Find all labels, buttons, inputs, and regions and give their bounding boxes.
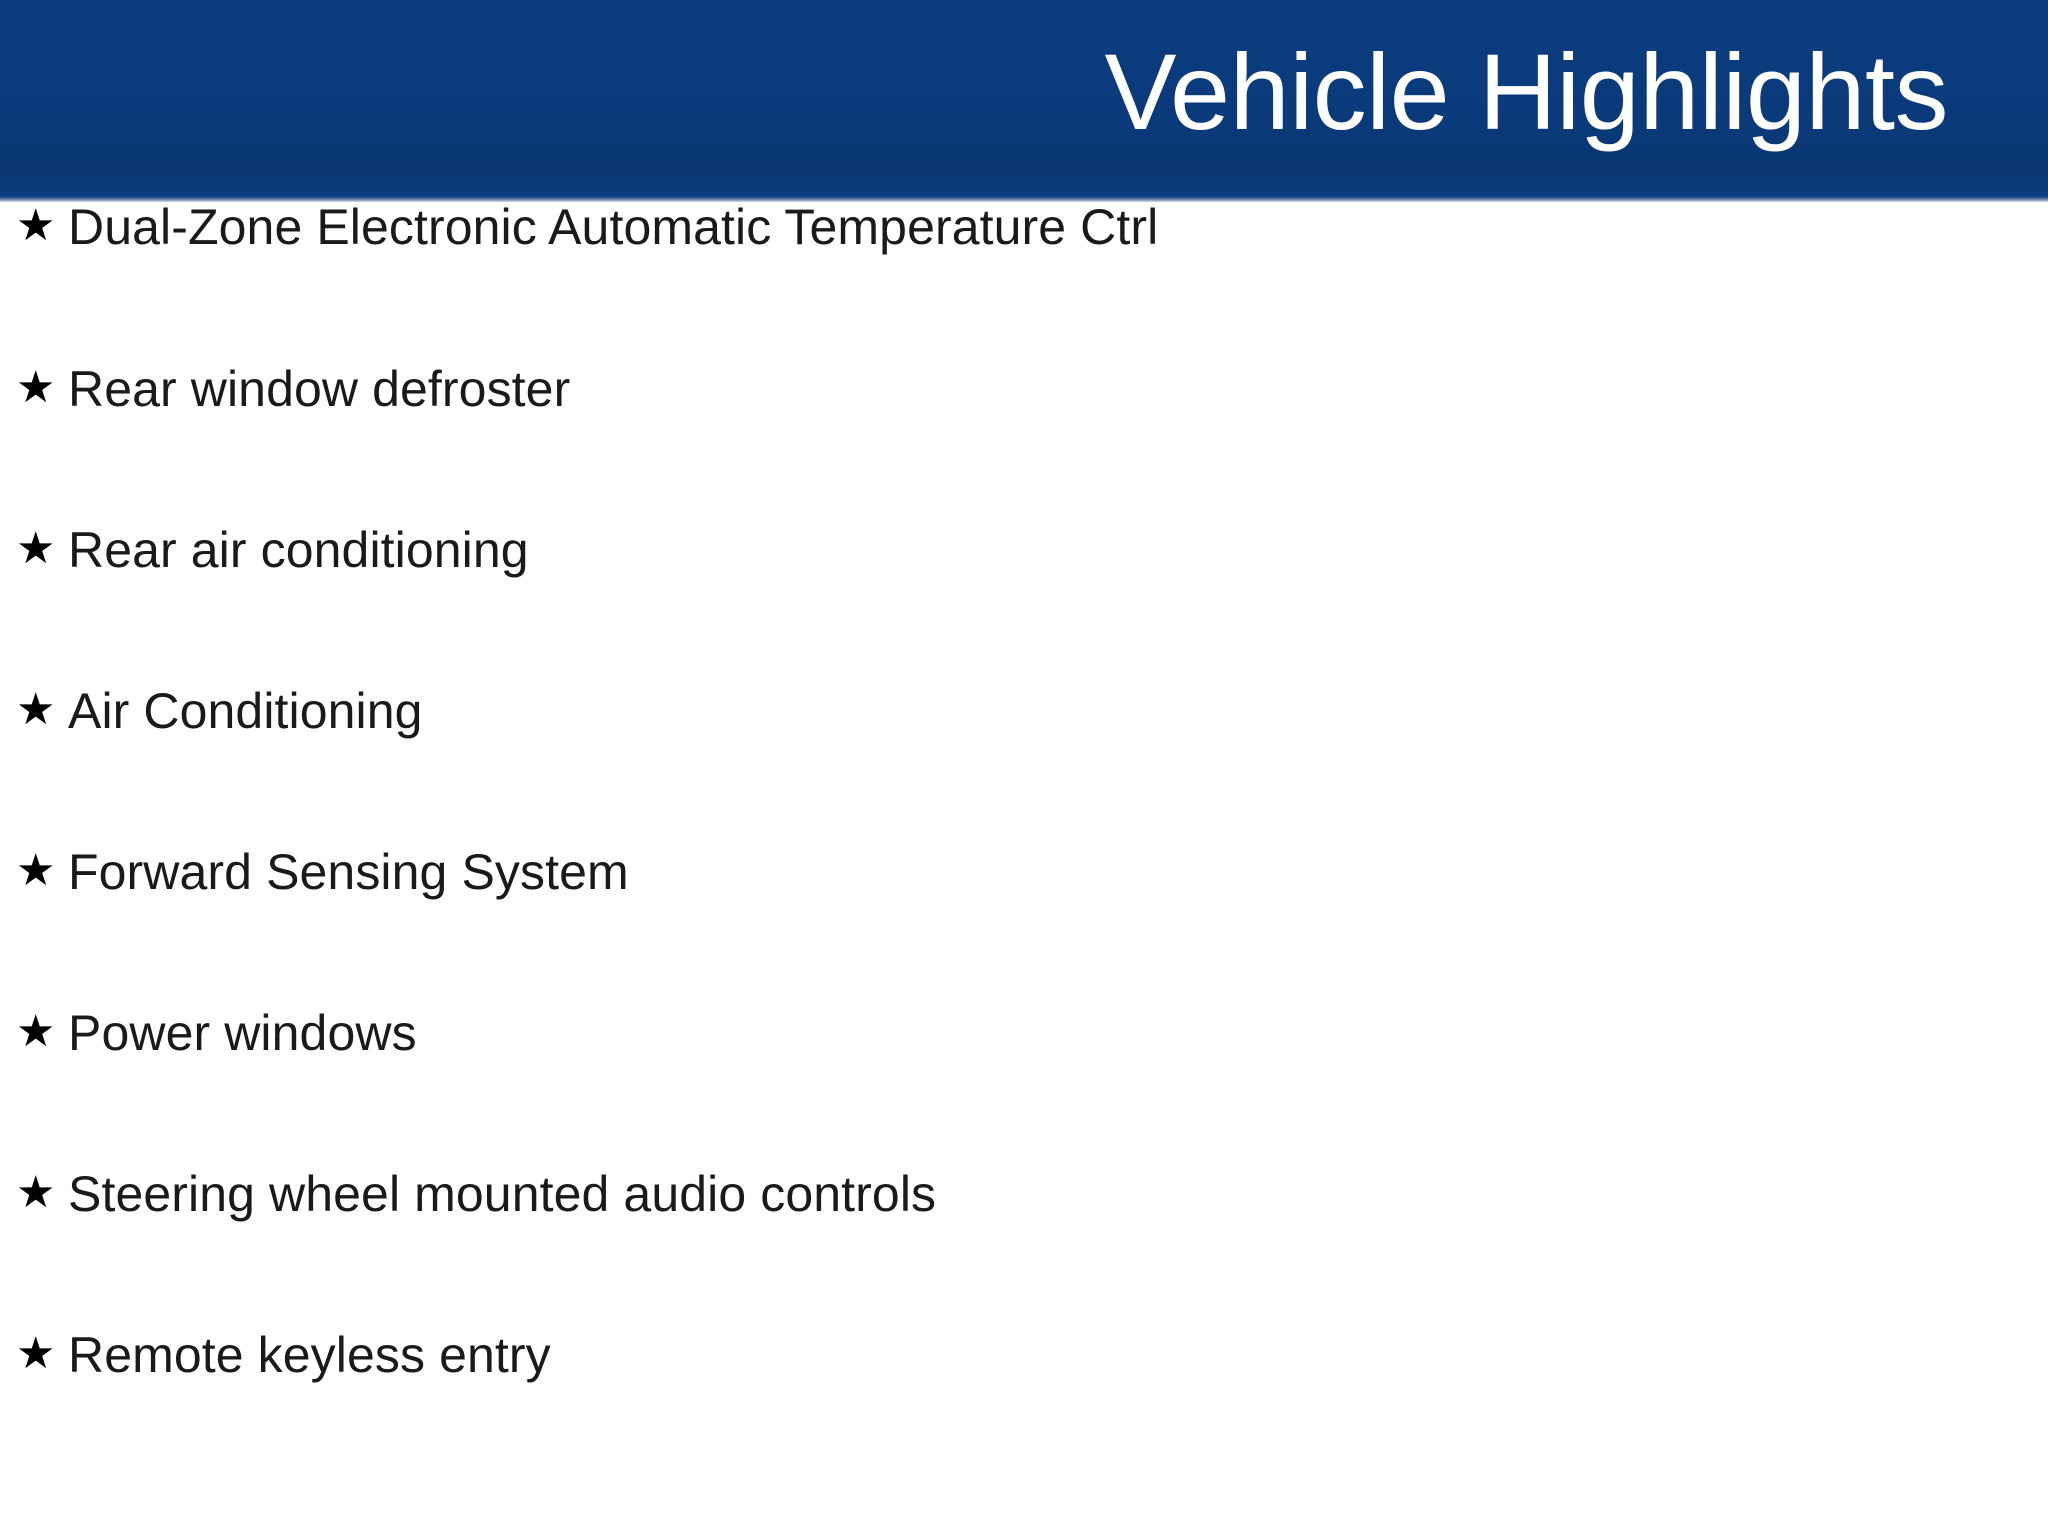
- highlight-label: Steering wheel mounted audio controls: [68, 1169, 936, 1219]
- list-item: ★ Rear air conditioning: [0, 525, 2048, 686]
- highlight-label: Rear window defroster: [68, 364, 570, 414]
- list-item: ★ Steering wheel mounted audio controls: [0, 1169, 2048, 1330]
- star-icon: ★: [16, 849, 68, 893]
- highlight-label: Rear air conditioning: [68, 525, 529, 575]
- highlight-label: Forward Sensing System: [68, 847, 629, 897]
- highlight-label: Remote keyless entry: [68, 1330, 551, 1380]
- star-icon: ★: [16, 688, 68, 732]
- list-item: ★ Rear window defroster: [0, 364, 2048, 525]
- list-item: ★ Air Conditioning: [0, 686, 2048, 847]
- list-item: ★ Dual-Zone Electronic Automatic Tempera…: [0, 202, 2048, 364]
- highlight-label: Dual-Zone Electronic Automatic Temperatu…: [68, 202, 1158, 252]
- vehicle-highlights-page: Vehicle Highlights ★ Dual-Zone Electroni…: [0, 0, 2048, 1536]
- page-header: Vehicle Highlights: [0, 0, 2048, 196]
- page-title: Vehicle Highlights: [1104, 37, 1948, 147]
- vehicle-highlights-list: ★ Dual-Zone Electronic Automatic Tempera…: [0, 202, 2048, 1491]
- highlight-label: Power windows: [68, 1008, 417, 1058]
- star-icon: ★: [16, 366, 68, 410]
- star-icon: ★: [16, 527, 68, 571]
- star-icon: ★: [16, 1332, 68, 1376]
- star-icon: ★: [16, 1171, 68, 1215]
- highlight-label: Air Conditioning: [68, 686, 423, 736]
- list-item: ★ Forward Sensing System: [0, 847, 2048, 1008]
- list-item: ★ Remote keyless entry: [0, 1330, 2048, 1491]
- star-icon: ★: [16, 204, 68, 248]
- star-icon: ★: [16, 1010, 68, 1054]
- list-item: ★ Power windows: [0, 1008, 2048, 1169]
